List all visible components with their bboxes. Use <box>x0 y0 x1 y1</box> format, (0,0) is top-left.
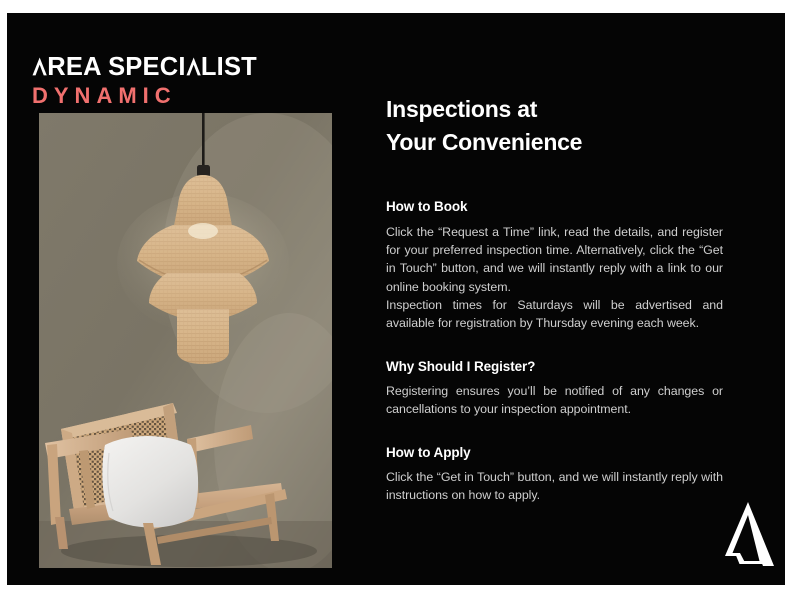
page-title: Inspections at Your Convenience <box>386 93 723 158</box>
triangle-a-icon <box>186 57 201 76</box>
section-paragraph: Registering ensures you’ll be notified o… <box>386 382 723 419</box>
triangle-a-icon <box>32 57 47 76</box>
brand-logo-secondary: DYNAMIC <box>32 85 332 107</box>
section-why-should-i-register: Why Should I Register? Registering ensur… <box>386 359 723 419</box>
section-how-to-apply: How to Apply Click the “Get in Touch” bu… <box>386 445 723 505</box>
page-title-line2: Your Convenience <box>386 126 723 159</box>
section-paragraph: Click the “Get in Touch” button, and we … <box>386 468 723 505</box>
section-how-to-book: How to Book Click the “Request a Time” l… <box>386 199 723 332</box>
section-paragraph: Inspection times for Saturdays will be a… <box>386 296 723 333</box>
brand-monogram-icon <box>722 502 774 566</box>
section-title: How to Book <box>386 199 723 215</box>
section-title: Why Should I Register? <box>386 359 723 375</box>
section-title: How to Apply <box>386 445 723 461</box>
brand-logo: REA SPECILIST DYNAMIC <box>32 55 332 107</box>
interior-photo <box>39 113 332 568</box>
brand-logo-primary-part2: LIST <box>201 53 257 81</box>
page-title-line1: Inspections at <box>386 93 723 126</box>
brand-logo-primary: REA SPECILIST <box>32 55 332 82</box>
brand-logo-primary-part1: REA SPECI <box>47 53 185 81</box>
content-panel: REA SPECILIST DYNAMIC <box>7 13 785 585</box>
text-column: Inspections at Your Convenience How to B… <box>386 93 723 504</box>
section-paragraph: Click the “Request a Time” link, read th… <box>386 223 723 296</box>
flyer-page: REA SPECILIST DYNAMIC <box>0 0 800 600</box>
